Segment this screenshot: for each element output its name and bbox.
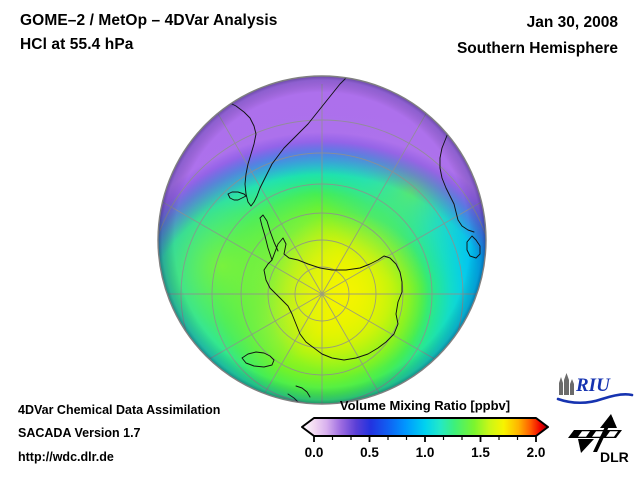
colorbar-title: Volume Mixing Ratio [ppbv]: [300, 398, 550, 413]
colorbar-tick-label: 1.0: [416, 445, 435, 460]
colorbar-tick-label: 1.5: [471, 445, 490, 460]
page-subtitle: HCl at 55.4 hPa: [20, 36, 134, 54]
page-title: GOME–2 / MetOp – 4DVar Analysis: [20, 12, 278, 30]
dlr-wing-icon: [568, 414, 622, 453]
colorbar-tick-label: 0.0: [305, 445, 324, 460]
colorbar-gradient-bar: [302, 418, 548, 436]
footer-line-assimilation: 4DVar Chemical Data Assimilation: [18, 403, 220, 417]
footer-line-version: SACADA Version 1.7: [18, 426, 141, 440]
dlr-logo-svg: DLR: [566, 412, 634, 466]
colorbar-tick-label: 0.5: [360, 445, 379, 460]
colorbar: Volume Mixing Ratio [ppbv] 0.00.51.01.52…: [300, 398, 550, 470]
orthographic-projection-svg: [150, 68, 498, 416]
footer-line-url[interactable]: http://wdc.dlr.de: [18, 450, 114, 464]
dlr-logo: DLR: [566, 412, 634, 466]
riu-logo: RIU: [556, 371, 634, 405]
riu-wordmark: RIU: [575, 375, 611, 396]
visualization-page: GOME–2 / MetOp – 4DVar Analysis HCl at 5…: [0, 0, 640, 480]
dlr-wordmark: DLR: [600, 449, 629, 465]
limb-shading: [158, 76, 486, 404]
riu-towers-icon: [559, 373, 574, 395]
riu-logo-svg: RIU: [556, 371, 634, 405]
hemisphere-label: Southern Hemisphere: [457, 40, 618, 58]
colorbar-svg: [300, 416, 550, 446]
colorbar-tick-labels: 0.00.51.01.52.0: [300, 445, 550, 465]
colorbar-tick-label: 2.0: [527, 445, 546, 460]
globe-map: [150, 68, 498, 416]
date-label: Jan 30, 2008: [527, 14, 618, 32]
